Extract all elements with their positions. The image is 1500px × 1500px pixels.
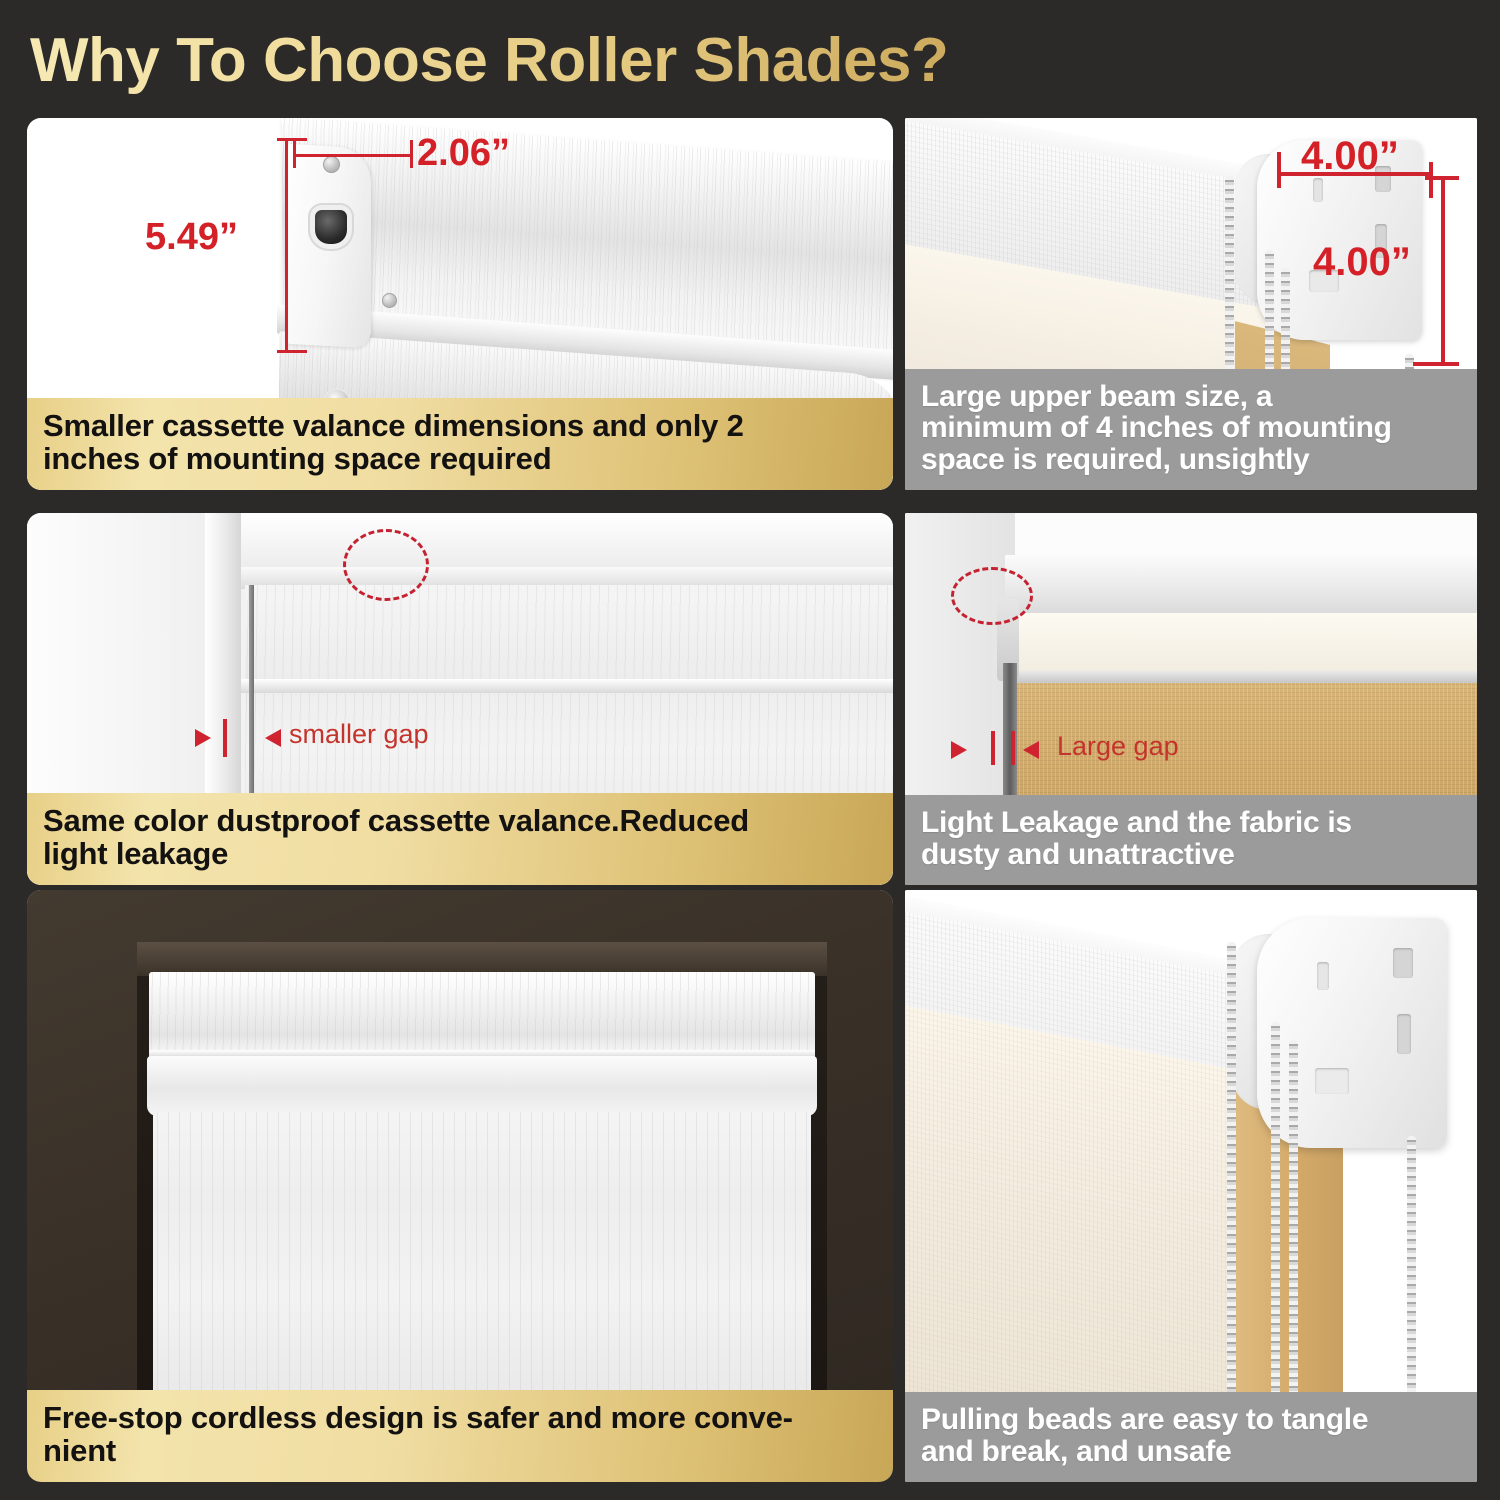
caption-line: Free-stop cordless design is safer and m… [43, 1402, 877, 1435]
arrow-right-icon [195, 729, 211, 747]
dim-tick [1413, 362, 1459, 366]
panel-pro-small-gap: smaller gap Same color dustproof cassett… [27, 513, 893, 885]
gap-mark [223, 719, 227, 757]
dim-tick [277, 138, 307, 141]
dim-tick [1429, 162, 1433, 198]
dim-line-vertical [1441, 176, 1445, 366]
roller-tube [1005, 555, 1477, 617]
caption-line: space is required, unsightly [921, 444, 1461, 476]
page-title: Why To Choose Roller Shades? [30, 22, 1130, 102]
valance-lip [1005, 671, 1477, 683]
caption-line: nient [43, 1435, 877, 1468]
caption-line: inches of mounting space required [43, 443, 877, 476]
dimension-width-label: 2.06” [417, 132, 510, 175]
gap-mark [991, 731, 995, 765]
dim-line-vertical [285, 138, 288, 353]
highlight-circle-icon [343, 529, 429, 601]
caption-line: Large upper beam size, a [921, 381, 1461, 413]
caption-con-light-leakage: Light Leakage and the fabric is dusty an… [905, 795, 1477, 885]
dim-line-horizontal [293, 154, 413, 157]
cassette-mechanism-knob [315, 210, 347, 244]
panel-con-light-leakage: Large gap Light Leakage and the fabric i… [905, 513, 1477, 885]
caption-line: minimum of 4 inches of mounting [921, 412, 1461, 444]
caption-con-pulling-beads: Pulling beads are easy to tangle and bre… [905, 1392, 1477, 1482]
screw-icon [382, 293, 397, 308]
gap-mark [1011, 731, 1015, 765]
bead-chain [1271, 1022, 1280, 1442]
cassette-end-cap [285, 144, 371, 349]
dimension-height-label: 4.00” [1313, 240, 1411, 285]
panel-con-beam-size: 4.00” 4.00” Large upper beam size, a min… [905, 118, 1477, 490]
caption-line: Smaller cassette valance dimensions and … [43, 410, 877, 443]
page-title-text: Why To Choose Roller Shades? [30, 22, 1130, 100]
roller-cover [147, 1056, 817, 1116]
caption-pro-cassette-size: Smaller cassette valance dimensions and … [27, 398, 893, 490]
bead-chain [1407, 1136, 1416, 1436]
dimension-width-label: 4.00” [1301, 134, 1399, 179]
arrow-left-icon [265, 729, 281, 747]
gap-label: smaller gap [289, 719, 429, 750]
caption-line: light leakage [43, 838, 877, 871]
arrow-right-icon [951, 741, 967, 759]
comparison-grid: 2.06” 5.49” Smaller cassette valance dim… [0, 110, 1500, 1490]
panel-pro-cassette-size: 2.06” 5.49” Smaller cassette valance dim… [27, 118, 893, 490]
dim-tick [277, 350, 307, 353]
screw-icon [323, 156, 340, 173]
window-frame-top [205, 513, 893, 569]
dim-tick [410, 140, 413, 168]
dim-tick [1425, 176, 1459, 180]
mounting-bracket [1257, 918, 1447, 1148]
dim-tick [293, 140, 296, 168]
caption-line: Light Leakage and the fabric is [921, 807, 1461, 839]
bead-chain [1227, 942, 1236, 1442]
caption-line: dusty and unattractive [921, 839, 1461, 871]
gap-label: Large gap [1057, 731, 1179, 762]
valance-rail [241, 679, 893, 693]
caption-con-beam-size: Large upper beam size, a minimum of 4 in… [905, 369, 1477, 490]
panel-pro-cordless: Free-stop cordless design is safer and m… [27, 890, 893, 1482]
dim-tick [1277, 152, 1281, 188]
caption-line: Pulling beads are easy to tangle [921, 1404, 1461, 1436]
valance-strip [1011, 613, 1477, 675]
cassette-valance [149, 972, 815, 1056]
highlight-circle-icon [951, 567, 1033, 625]
caption-line: Same color dustproof cassette valance.Re… [43, 805, 877, 838]
panel-con-pulling-beads: Pulling beads are easy to tangle and bre… [905, 890, 1477, 1482]
window-header [137, 942, 827, 976]
caption-line: and break, and unsafe [921, 1436, 1461, 1468]
bead-chain [1289, 1040, 1298, 1440]
dimension-height-label: 5.49” [145, 216, 238, 259]
caption-pro-cordless: Free-stop cordless design is safer and m… [27, 1390, 893, 1482]
caption-pro-small-gap: Same color dustproof cassette valance.Re… [27, 793, 893, 885]
arrow-left-icon [1023, 741, 1039, 759]
